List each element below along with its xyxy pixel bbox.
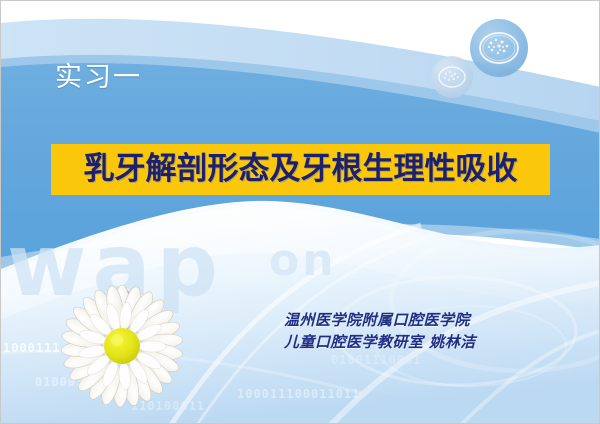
page-title: 乳牙解剖形态及牙根生理性吸收 <box>84 154 518 185</box>
author-institution: 温州医学院附属口腔医学院 <box>284 309 476 331</box>
presentation-slide: wap on 1000111 0100011100001 10001110001… <box>0 0 600 424</box>
section-label: 实习一 <box>55 63 142 93</box>
author-block: 温州医学院附属口腔医学院 儿童口腔医学教研室 姚林洁 <box>284 309 476 353</box>
author-department: 儿童口腔医学教研室 姚林洁 <box>284 331 476 353</box>
title-band: 乳牙解剖形态及牙根生理性吸收 <box>51 144 550 195</box>
